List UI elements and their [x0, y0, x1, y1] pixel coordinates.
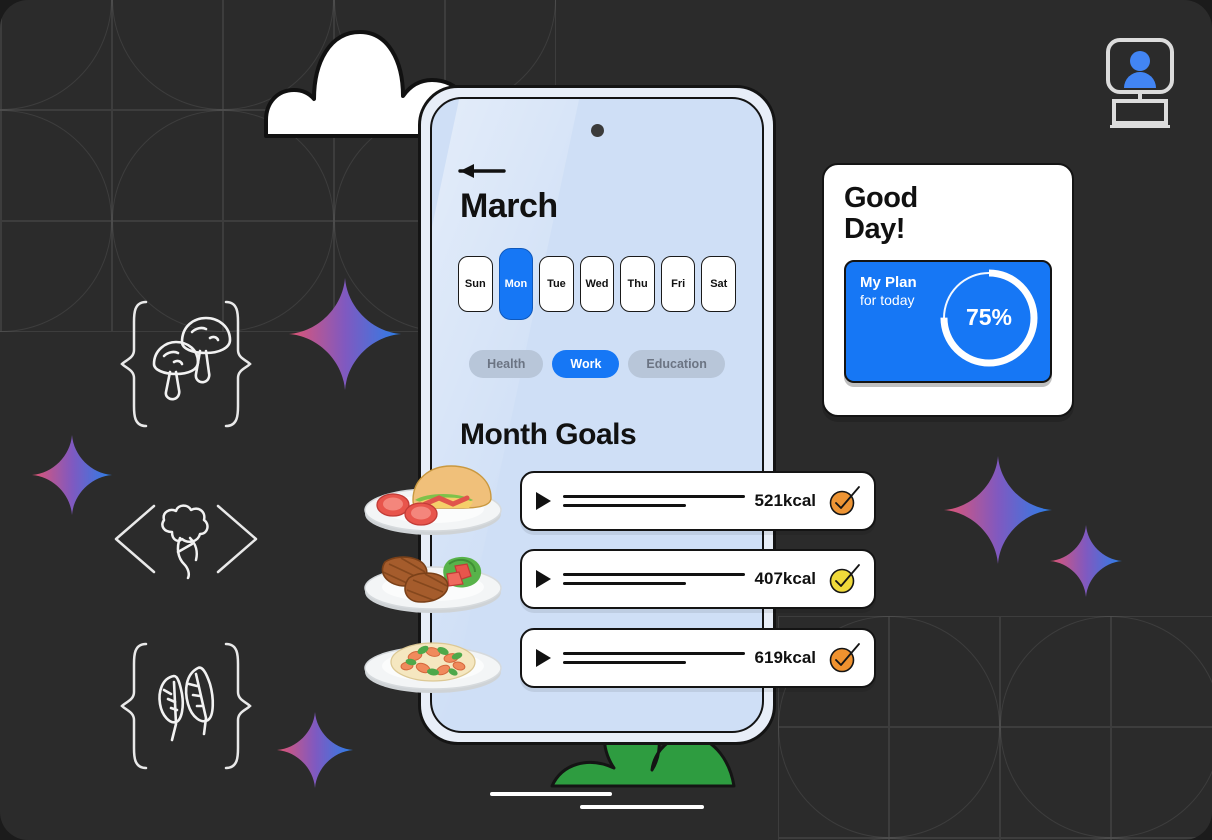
weekday-chip-thu[interactable]: Thu	[620, 256, 655, 312]
calorie-label: 619kcal	[755, 648, 816, 668]
sparkle-icon	[277, 712, 353, 793]
broccoli-icon-group	[110, 492, 262, 586]
spinach-icon-group	[118, 640, 254, 772]
goal-progress-lines	[563, 573, 745, 585]
progress-percent-label: 75%	[936, 265, 1042, 371]
check-badge-icon[interactable]	[828, 563, 860, 595]
goal-row[interactable]: 521kcal	[520, 471, 876, 531]
weekday-chip-mon[interactable]: Mon	[499, 248, 534, 320]
goal-line	[563, 652, 745, 655]
spinach-leaves-icon	[160, 668, 213, 740]
monitor-user-icon	[1104, 38, 1176, 133]
sparkle-icon	[944, 456, 1052, 569]
goal-row[interactable]: 407kcal	[520, 549, 876, 609]
sparkle-icon	[32, 435, 112, 520]
play-icon[interactable]	[536, 492, 551, 510]
check-badge-icon[interactable]	[828, 485, 860, 517]
play-icon[interactable]	[536, 649, 551, 667]
broccoli-icon	[162, 506, 207, 578]
good-day-title: Good Day!	[844, 183, 1052, 246]
weekday-chip-fri[interactable]: Fri	[661, 256, 696, 312]
mushrooms-icon-group	[118, 298, 254, 430]
category-filter-tabs[interactable]: HealthWorkEducation	[458, 350, 736, 378]
decorative-line	[490, 792, 612, 796]
my-plan-card[interactable]: My Plan for today 75%	[844, 260, 1052, 383]
mushrooms-icon	[154, 318, 230, 399]
category-pill-education[interactable]: Education	[628, 350, 724, 378]
calorie-label: 407kcal	[755, 569, 816, 589]
section-title-month-goals: Month Goals	[460, 418, 736, 452]
illustration-canvas: March SunMonTueWedThuFriSat HealthWorkEd…	[0, 0, 1212, 840]
sandwich-plate-illustration	[363, 458, 503, 541]
goal-line	[563, 582, 686, 585]
goal-line	[563, 661, 686, 664]
weekday-selector[interactable]: SunMonTueWedThuFriSat	[458, 256, 736, 320]
goal-progress-lines	[563, 495, 745, 507]
category-pill-health[interactable]: Health	[469, 350, 543, 378]
sparkle-icon	[289, 278, 401, 395]
sparkle-icon	[1050, 525, 1122, 602]
category-pill-work[interactable]: Work	[552, 350, 619, 378]
calorie-label: 521kcal	[755, 491, 816, 511]
goal-line	[563, 495, 745, 498]
pasta-plate-illustration	[363, 618, 503, 701]
page-title: March	[460, 187, 736, 226]
weekday-chip-tue[interactable]: Tue	[539, 256, 574, 312]
play-icon[interactable]	[536, 570, 551, 588]
goal-row[interactable]: 619kcal	[520, 628, 876, 688]
goal-progress-lines	[563, 652, 745, 664]
goal-line	[563, 504, 686, 507]
goal-line	[563, 573, 745, 576]
weekday-chip-sun[interactable]: Sun	[458, 256, 493, 312]
progress-ring: 75%	[936, 265, 1042, 376]
good-day-title-line1: Good	[844, 182, 918, 214]
good-day-card: Good Day! My Plan for today 75%	[822, 163, 1074, 417]
steak-plate-illustration	[363, 538, 503, 621]
weekday-chip-wed[interactable]: Wed	[580, 256, 615, 312]
weekday-chip-sat[interactable]: Sat	[701, 256, 736, 312]
decorative-line	[580, 805, 704, 809]
good-day-title-line2: Day!	[844, 213, 905, 245]
back-arrow-icon[interactable]	[458, 161, 506, 181]
check-badge-icon[interactable]	[828, 642, 860, 674]
